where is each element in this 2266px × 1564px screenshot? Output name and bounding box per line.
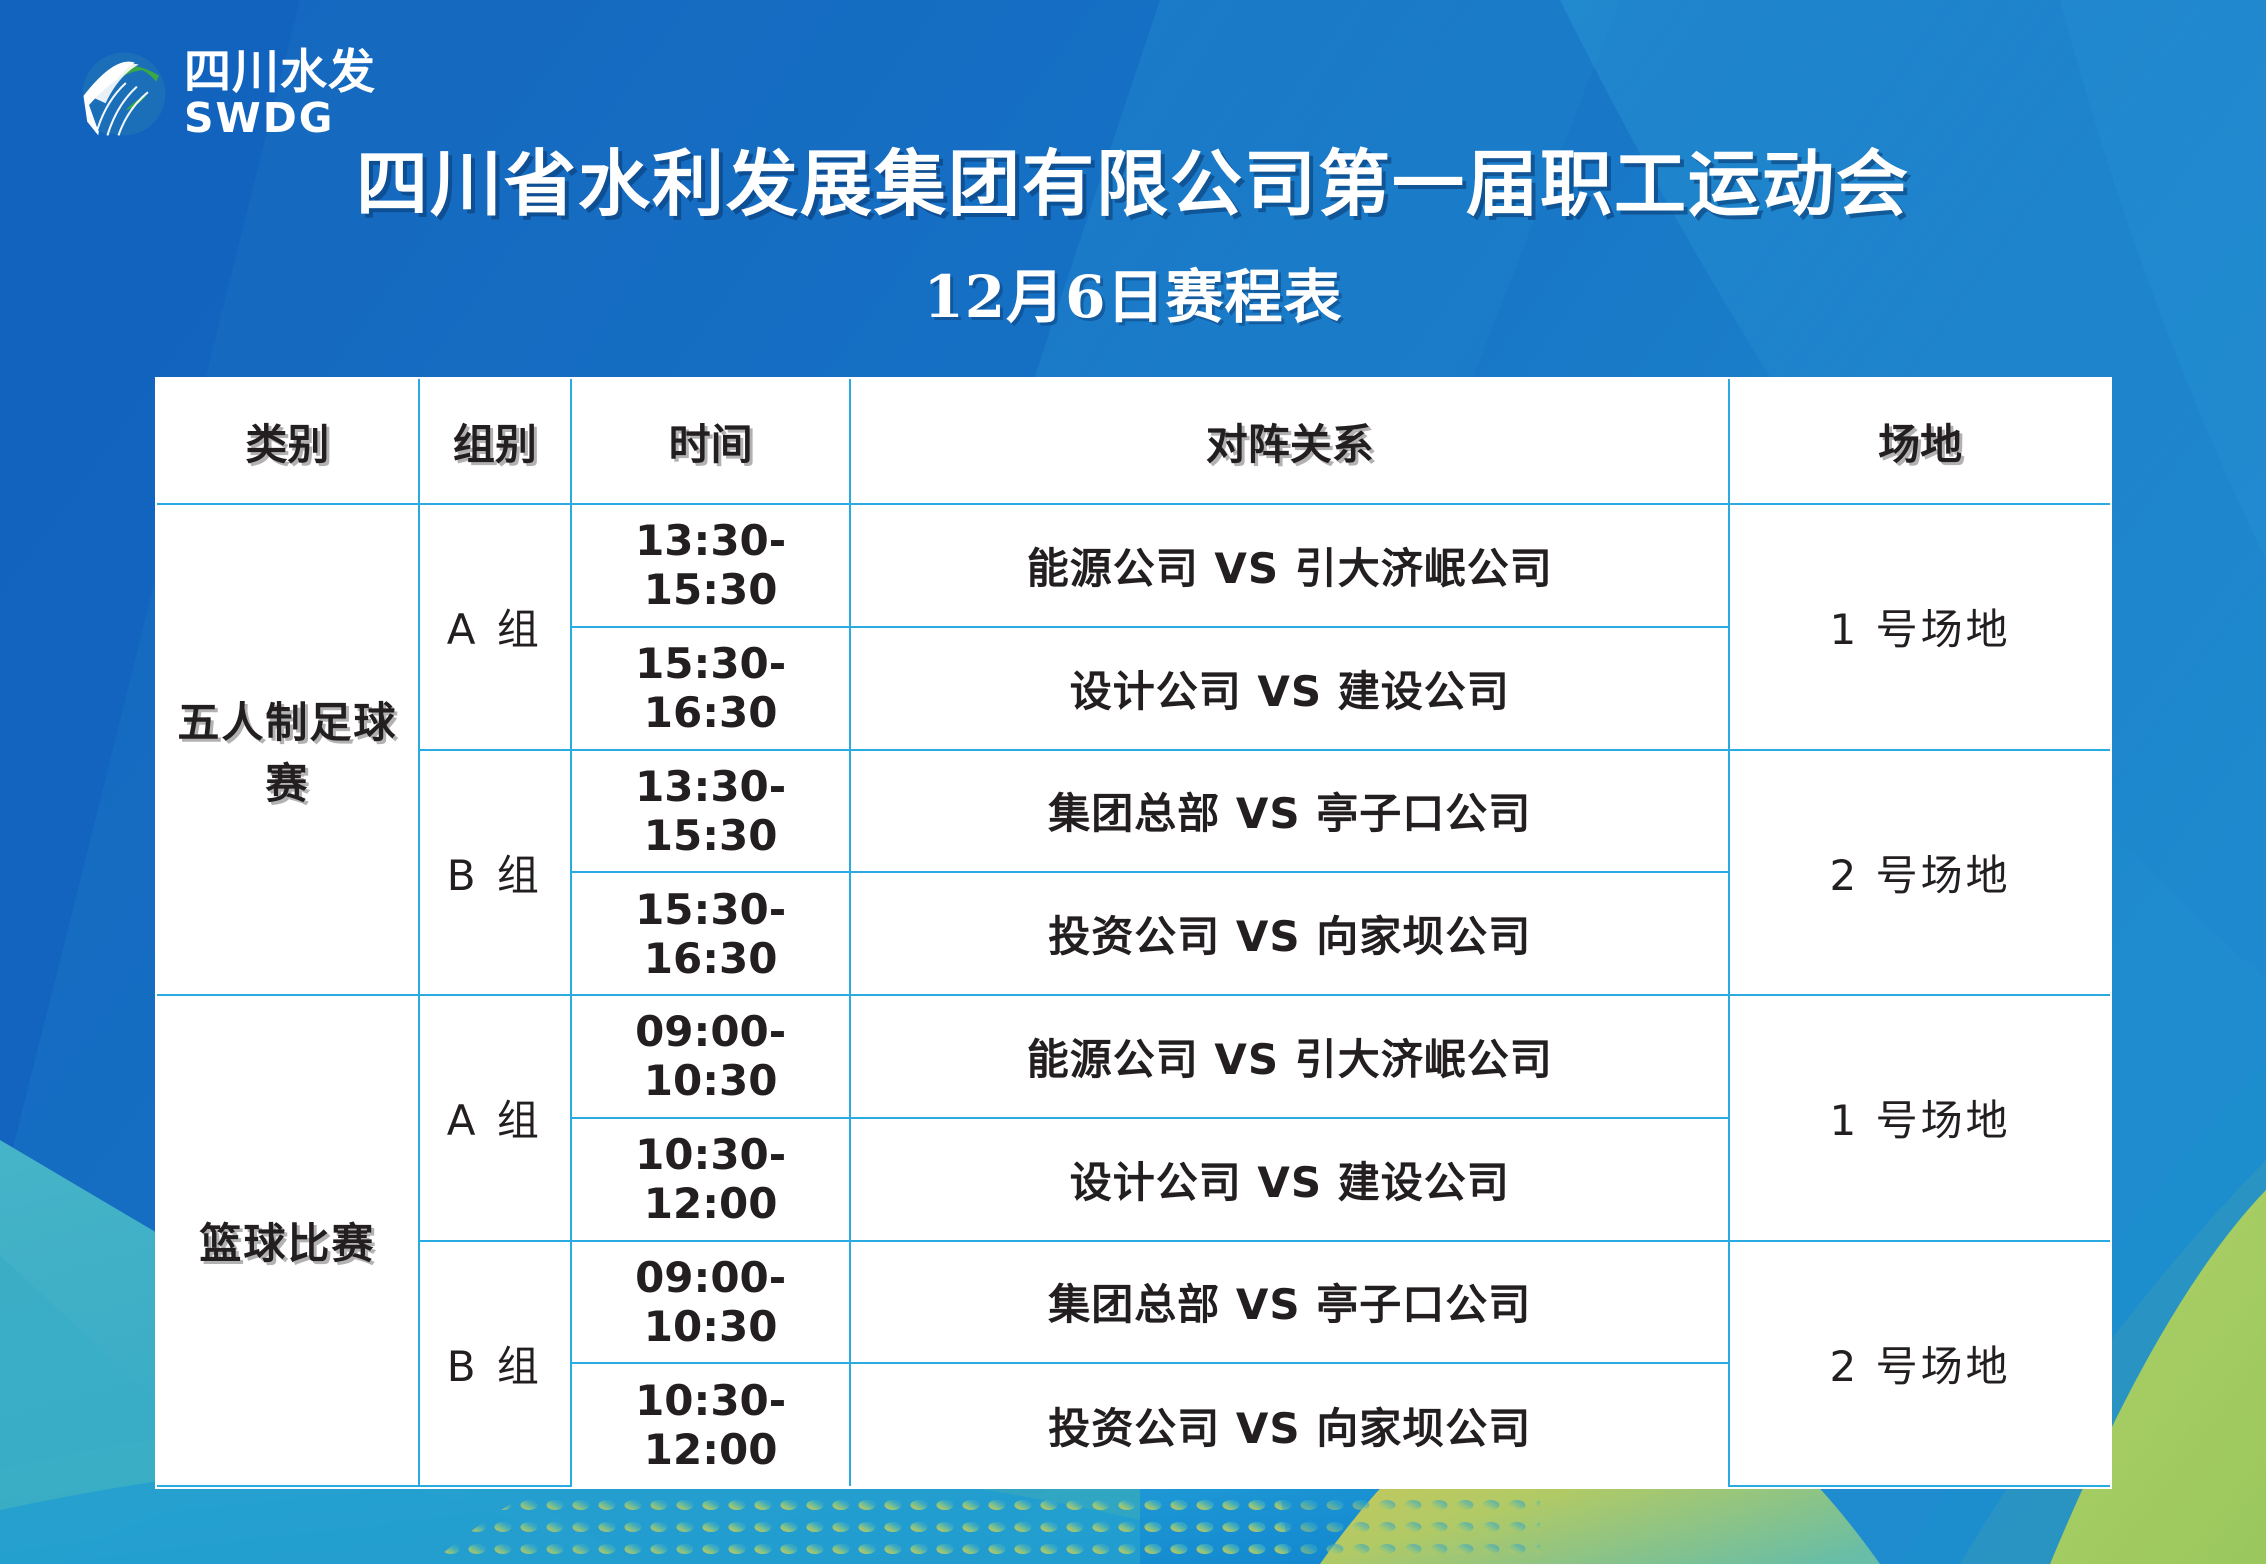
table-header: 类别 组别 时间 对阵关系 场地 xyxy=(157,379,2110,504)
cell-category: 五人制足球赛 xyxy=(157,504,419,995)
cell-venue: 1 号场地 xyxy=(1729,995,2110,1241)
cell-time: 15:30-16:30 xyxy=(571,872,850,995)
page-subtitle: 12月6日赛程表 xyxy=(0,250,2266,334)
cell-time: 09:00-10:30 xyxy=(571,1241,850,1364)
column-header-venue: 场地 xyxy=(1729,379,2110,504)
logo-chinese-name: 四川水发 xyxy=(184,49,376,96)
cell-matchup: 集团总部 VS 亭子口公司 xyxy=(850,1241,1729,1364)
cell-time: 15:30-16:30 xyxy=(571,627,850,750)
cell-venue: 1 号场地 xyxy=(1729,504,2110,750)
cell-venue: 2 号场地 xyxy=(1729,1241,2110,1487)
column-header-category: 类别 xyxy=(157,379,419,504)
cell-group: A 组 xyxy=(419,504,571,750)
cell-group: B 组 xyxy=(419,1241,571,1487)
cell-group: A 组 xyxy=(419,995,571,1241)
cell-time: 10:30-12:00 xyxy=(571,1363,850,1486)
schedule-table-container: 类别 组别 时间 对阵关系 场地 五人制足球赛A 组13:30-15:30能源公… xyxy=(155,377,2112,1489)
cell-matchup: 能源公司 VS 引大济岷公司 xyxy=(850,995,1729,1118)
cell-time: 13:30-15:30 xyxy=(571,750,850,873)
cell-matchup: 设计公司 VS 建设公司 xyxy=(850,1118,1729,1241)
cell-matchup: 投资公司 VS 向家坝公司 xyxy=(850,1363,1729,1486)
cell-time: 09:00-10:30 xyxy=(571,995,850,1118)
schedule-table: 类别 组别 时间 对阵关系 场地 五人制足球赛A 组13:30-15:30能源公… xyxy=(157,379,2110,1487)
cell-group: B 组 xyxy=(419,750,571,996)
table-row: B 组09:00-10:30集团总部 VS 亭子口公司2 号场地 xyxy=(157,1241,2110,1364)
column-header-time: 时间 xyxy=(571,379,850,504)
cell-matchup: 设计公司 VS 建设公司 xyxy=(850,627,1729,750)
cell-matchup: 投资公司 VS 向家坝公司 xyxy=(850,872,1729,995)
table-row: B 组13:30-15:30集团总部 VS 亭子口公司2 号场地 xyxy=(157,750,2110,873)
column-header-group: 组别 xyxy=(419,379,571,504)
cell-category: 篮球比赛 xyxy=(157,995,419,1486)
cell-time: 10:30-12:00 xyxy=(571,1118,850,1241)
cell-venue: 2 号场地 xyxy=(1729,750,2110,996)
cell-matchup: 能源公司 VS 引大济岷公司 xyxy=(850,504,1729,627)
table-row: 五人制足球赛A 组13:30-15:30能源公司 VS 引大济岷公司1 号场地 xyxy=(157,504,2110,627)
page-title: 四川省水利发展集团有限公司第一届职工运动会 xyxy=(0,125,2266,230)
cell-time: 13:30-15:30 xyxy=(571,504,850,627)
column-header-matchup: 对阵关系 xyxy=(850,379,1729,504)
table-body: 五人制足球赛A 组13:30-15:30能源公司 VS 引大济岷公司1 号场地1… xyxy=(157,504,2110,1486)
cell-matchup: 集团总部 VS 亭子口公司 xyxy=(850,750,1729,873)
header-row: 类别 组别 时间 对阵关系 场地 xyxy=(157,379,2110,504)
page-header: 四川水发 SWDG 四川省水利发展集团有限公司第一届职工运动会 12月6日赛程表 xyxy=(0,0,2266,340)
table-row: 篮球比赛A 组09:00-10:30能源公司 VS 引大济岷公司1 号场地 xyxy=(157,995,2110,1118)
